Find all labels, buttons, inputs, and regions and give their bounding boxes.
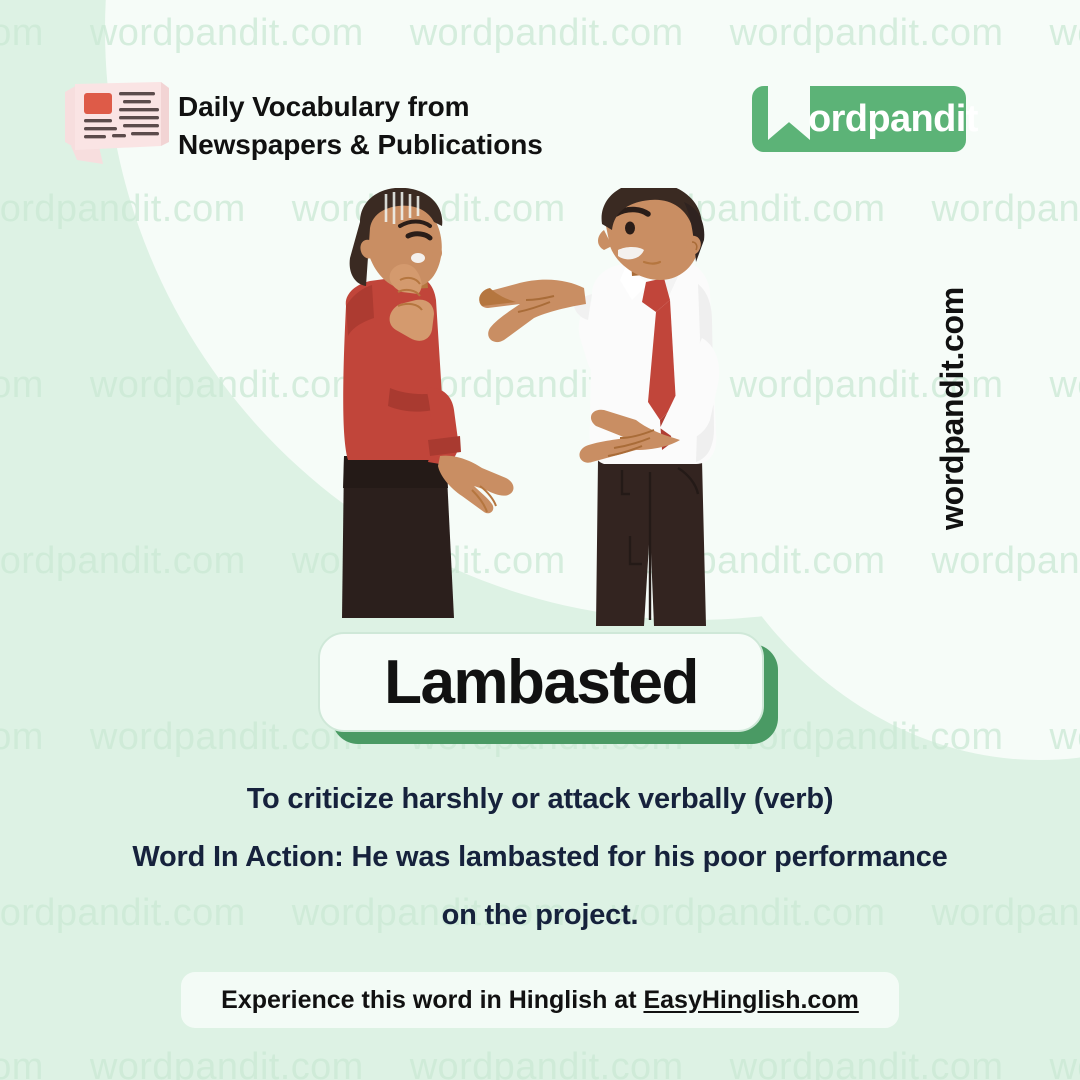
definition-block: To criticize harshly or attack verbally …	[0, 770, 1080, 944]
wordpandit-logo[interactable]: ordpandit	[752, 86, 966, 152]
bookmark-icon	[768, 76, 810, 140]
footer-prefix: Experience this word in Hinglish at	[221, 986, 643, 1014]
footer-text: Experience this word in Hinglish at Easy…	[221, 986, 859, 1015]
poster-canvas: wordpandit.comwordpandit.comwordpandit.c…	[0, 0, 1080, 1080]
word-card-front: Lambasted	[318, 632, 764, 732]
watermark-text: wordpandit.com	[410, 1046, 684, 1080]
watermark-text: wordpandit.com	[0, 716, 44, 758]
easyhinglish-link[interactable]: EasyHinglish.com	[643, 986, 858, 1014]
footer-bar: Experience this word in Hinglish at Easy…	[181, 972, 899, 1028]
page-title: Daily Vocabulary from Newspapers & Publi…	[178, 88, 543, 164]
definition-line-1: To criticize harshly or attack verbally …	[0, 770, 1080, 828]
header: Daily Vocabulary from Newspapers & Publi…	[0, 0, 1080, 185]
logo-label: ordpandit	[808, 86, 978, 152]
watermark-text: wordpandit.com	[0, 540, 246, 582]
two-people-arguing-illustration	[330, 188, 760, 636]
watermark-text: wordpandit.com	[730, 1046, 1004, 1080]
watermark-text: wordpandit.com	[0, 364, 44, 406]
watermark-row: wordpandit.comwordpandit.comwordpandit.c…	[0, 1046, 1080, 1080]
word-card: Lambasted	[318, 632, 778, 744]
side-watermark: wordpandit.com	[934, 287, 971, 530]
watermark-text: wordpandit.com	[0, 1046, 44, 1080]
definition-line-2: Word In Action: He was lambasted for his…	[0, 828, 1080, 886]
watermark-text: wordpandit.com	[90, 1046, 364, 1080]
definition-line-3: on the project.	[0, 886, 1080, 944]
newspaper-icon	[57, 72, 175, 164]
vocabulary-word: Lambasted	[384, 647, 698, 718]
watermark-text: wordpandit.com	[1049, 1046, 1080, 1080]
